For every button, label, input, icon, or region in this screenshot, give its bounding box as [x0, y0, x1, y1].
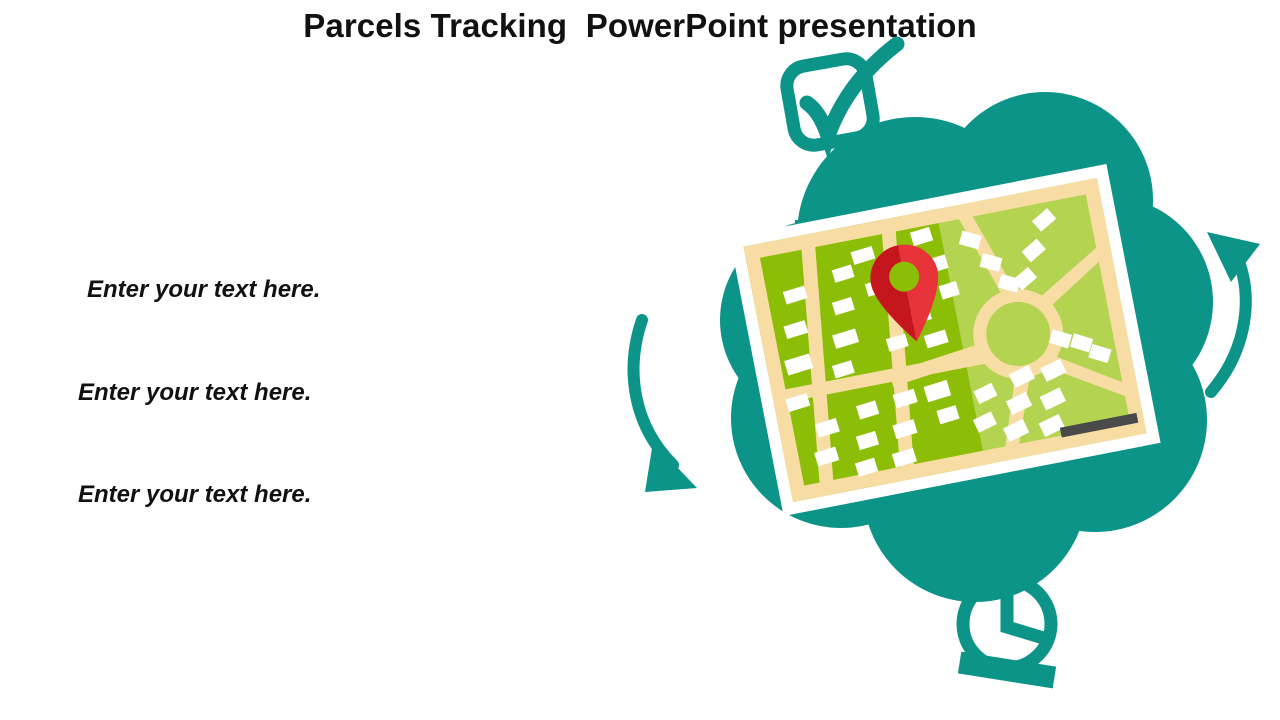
- right-curved-arrow-icon: [1207, 232, 1260, 392]
- slide-canvas: Parcels Tracking PowerPoint presentation…: [0, 0, 1280, 720]
- body-text-line-1[interactable]: Enter your text here.: [87, 275, 620, 305]
- body-text-line-3[interactable]: Enter your text here.: [78, 480, 620, 510]
- clock-icon[interactable]: [958, 580, 1056, 688]
- parcels-tracking-illustration: [615, 20, 1280, 710]
- body-text-line-2[interactable]: Enter your text here.: [78, 378, 620, 408]
- left-curved-arrow-icon: [634, 320, 697, 492]
- body-text-block: Enter your text here. Enter your text he…: [0, 275, 620, 510]
